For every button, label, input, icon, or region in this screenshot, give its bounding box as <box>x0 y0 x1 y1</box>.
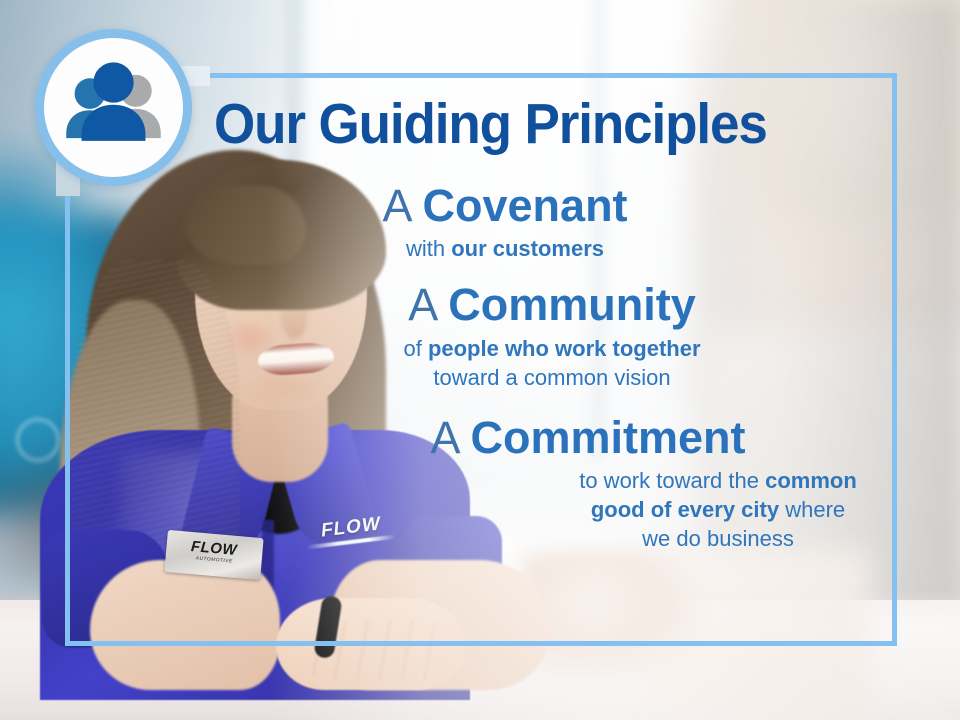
subtext-part: with <box>406 236 451 261</box>
subtext-part: to work toward the <box>579 468 765 493</box>
subtext-part-bold: common <box>765 468 857 493</box>
subtext-part: of <box>403 336 427 361</box>
principle-covenant: A Covenant with our customers <box>165 182 845 263</box>
principle-lead: A <box>408 279 436 330</box>
people-group-icon <box>44 38 183 177</box>
principle-keyword: Community <box>448 279 696 330</box>
subtext-line: we do business <box>508 524 928 553</box>
subtext-part-bold: our customers <box>451 236 604 261</box>
principle-commitment: A Commitment to work toward the common g… <box>248 414 928 553</box>
principle-keyword: Covenant <box>423 180 628 231</box>
subtext-part: where <box>779 497 845 522</box>
guiding-principles-banner: FLOW AUTOMOTIVE FLOW Our Guiding Princip… <box>0 0 960 720</box>
page-title: Our Guiding Principles <box>214 96 767 153</box>
principle-subtext: to work toward the common good of every … <box>508 466 928 553</box>
subtext-part-bold: people who work together <box>428 336 701 361</box>
subtext-line: to work toward the common <box>508 466 928 495</box>
principle-heading: A Community <box>212 281 892 328</box>
arm-left <box>90 560 280 690</box>
subtext-part-bold: good of every city <box>591 497 779 522</box>
subtext-line: good of every city where <box>508 495 928 524</box>
principle-subtext: with our customers <box>165 234 845 263</box>
principle-community: A Community of people who work together … <box>212 281 892 391</box>
subtext-line: toward a common vision <box>212 363 892 392</box>
principle-keyword: Commitment <box>471 412 746 463</box>
people-badge <box>35 29 192 186</box>
principle-subtext: of people who work together toward a com… <box>212 334 892 392</box>
principle-lead: A <box>382 180 410 231</box>
subtext-line: of people who work together <box>212 334 892 363</box>
principle-heading: A Covenant <box>165 182 845 229</box>
principle-heading: A Commitment <box>248 414 928 461</box>
principles-list: A Covenant with our customers A Communit… <box>200 182 880 559</box>
principle-lead: A <box>430 412 458 463</box>
